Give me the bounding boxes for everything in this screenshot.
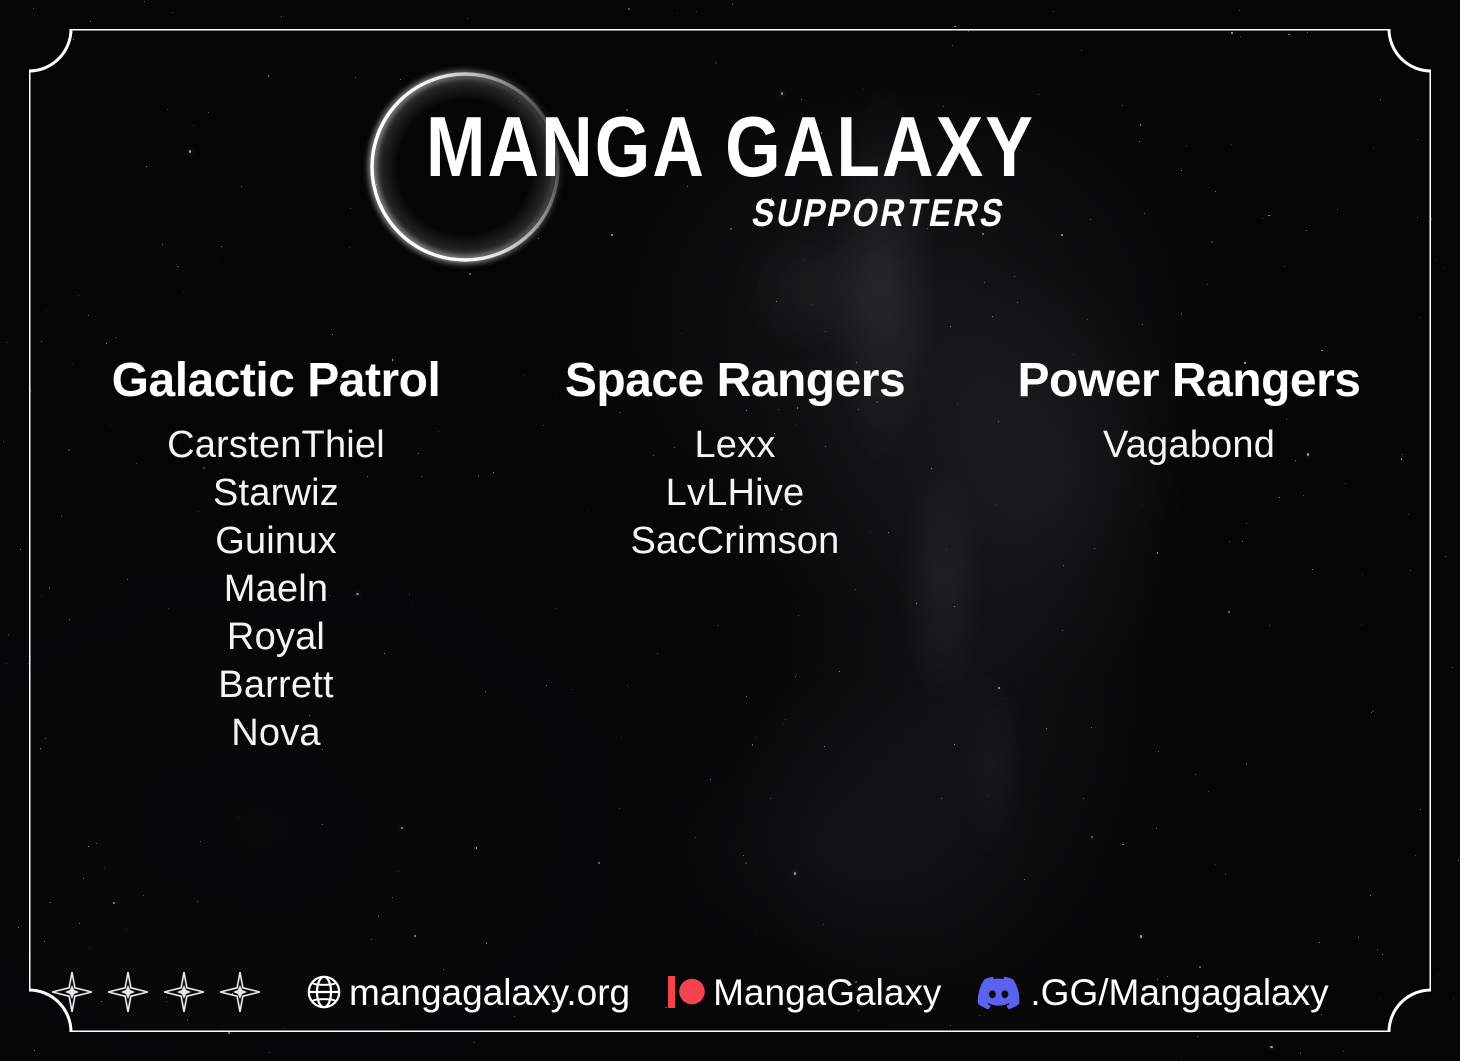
supporter-name-list: Vagabond — [959, 421, 1419, 469]
sparkle-star-icon — [106, 970, 150, 1014]
supporter-column-galactic-patrol: Galactic Patrol CarstenThiel Starwiz Gui… — [41, 357, 511, 757]
column-title: Power Rangers — [959, 357, 1419, 405]
sparkle-star-icon — [162, 970, 206, 1014]
discord-label: .GG/Mangagalaxy — [1030, 974, 1328, 1011]
list-item: Barrett — [41, 661, 511, 709]
sparkle-star-icon — [218, 970, 262, 1014]
supporter-name-list: CarstenThiel Starwiz Guinux Maeln Royal … — [41, 421, 511, 757]
list-item: Starwiz — [41, 469, 511, 517]
supporter-name-list: Lexx LvLHive SacCrimson — [511, 421, 959, 565]
discord-icon — [977, 974, 1023, 1010]
supporters-poster: MANGA GALAXY SUPPORTERS Galactic Patrol … — [0, 0, 1460, 1061]
list-item: Maeln — [41, 565, 511, 613]
sparkle-star-icon — [50, 970, 94, 1014]
patreon-link[interactable]: MangaGalaxy — [666, 974, 941, 1011]
list-item: Guinux — [41, 517, 511, 565]
website-link[interactable]: mangagalaxy.org — [306, 974, 630, 1011]
list-item: SacCrimson — [511, 517, 959, 565]
list-item: Vagabond — [959, 421, 1419, 469]
discord-link[interactable]: .GG/Mangagalaxy — [977, 974, 1328, 1011]
website-label: mangagalaxy.org — [349, 974, 630, 1011]
column-title: Space Rangers — [511, 357, 959, 405]
globe-icon — [306, 974, 342, 1010]
list-item: Nova — [41, 709, 511, 757]
list-item: CarstenThiel — [41, 421, 511, 469]
supporter-column-power-rangers: Power Rangers Vagabond — [959, 357, 1419, 469]
list-item: Lexx — [511, 421, 959, 469]
footer-bar: mangagalaxy.org MangaGalaxy .GG/Mangagal… — [50, 962, 1410, 1022]
patreon-label: MangaGalaxy — [713, 974, 941, 1011]
supporter-column-space-rangers: Space Rangers Lexx LvLHive SacCrimson — [511, 357, 959, 565]
sparkle-decoration-group — [50, 970, 262, 1014]
crescent-moon-svg — [360, 62, 570, 272]
crescent-moon-icon — [360, 62, 570, 272]
column-title: Galactic Patrol — [41, 357, 511, 405]
supporter-columns: Galactic Patrol CarstenThiel Starwiz Gui… — [29, 357, 1431, 757]
list-item: LvLHive — [511, 469, 959, 517]
list-item: Royal — [41, 613, 511, 661]
patreon-icon — [666, 974, 706, 1010]
